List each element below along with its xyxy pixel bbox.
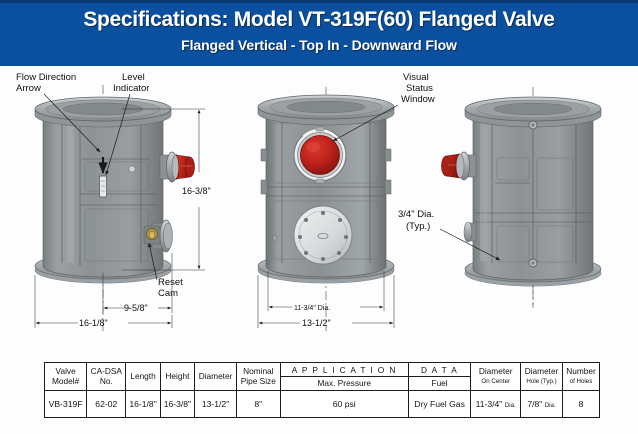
table-row: VB-319F 62-02 16-1/8" 16-3/8" 13-1/2" 8"… — [45, 391, 600, 418]
svg-text:Arrow: Arrow — [16, 83, 41, 94]
svg-text:Indicator: Indicator — [113, 83, 149, 94]
cell-nominal-pipe-size: 8" — [237, 391, 281, 418]
page-title: Specifications: Model VT-319F(60) Flange… — [0, 8, 638, 32]
svg-text:13-1/2": 13-1/2" — [302, 318, 331, 328]
view-rear: 3/4" Dia. (Typ.) — [398, 87, 601, 308]
page-subtitle: Flanged Vertical - Top In - Downward Flo… — [0, 37, 638, 53]
cell-diameter: 13-1/2" — [195, 391, 237, 418]
level-indicator-assembly — [160, 152, 195, 182]
view-front: Visual Status Window 11-3/4" Dia. 13-1/2… — [258, 72, 435, 331]
svg-text:Status: Status — [406, 83, 433, 94]
cell-diameter-hole-typ: 7/8" Dia. — [521, 391, 563, 418]
top-flange — [258, 95, 394, 125]
svg-text:9-5/8": 9-5/8" — [124, 303, 148, 313]
top-flange — [35, 97, 171, 127]
cell-number-of-holes: 8 — [563, 391, 600, 418]
specifications-table: Valve Model# CA-DSA No. Length Height Di… — [44, 362, 600, 418]
level-indicator-glyph — [100, 176, 107, 197]
svg-text:Level: Level — [122, 72, 145, 83]
table-group-header-row: Valve Model# CA-DSA No. Length Height Di… — [45, 363, 600, 377]
svg-text:Flow Direction: Flow Direction — [16, 72, 76, 83]
svg-text:11-3/4" Dia.: 11-3/4" Dia. — [294, 305, 330, 312]
header-banner: Specifications: Model VT-319F(60) Flange… — [0, 0, 638, 66]
header-nominal-pipe-size: Nominal Pipe Size — [237, 363, 281, 391]
cell-ca-dsa-no: 62-02 — [87, 391, 126, 418]
header-diameter-hole-typ: Diameter Hole (Typ.) — [521, 363, 563, 391]
header-max-pressure: Max. Pressure — [280, 377, 408, 391]
header-number-of-holes: Number of Holes — [563, 363, 600, 391]
cell-max-pressure: 60 psi — [280, 391, 408, 418]
svg-text:16-3/8": 16-3/8" — [182, 186, 211, 196]
svg-text:Cam: Cam — [158, 288, 178, 299]
cell-fuel: Dry Fuel Gas — [408, 391, 470, 418]
cell-length: 16-1/8" — [126, 391, 160, 418]
svg-text:16-1/8": 16-1/8" — [79, 318, 108, 328]
cell-height: 16-3/8" — [160, 391, 194, 418]
svg-text:(Typ.): (Typ.) — [406, 221, 430, 232]
cell-diameter-on-center: 11-3/4" Dia. — [471, 391, 521, 418]
valve-body — [473, 119, 593, 280]
header-diameter-on-center: Diameter On Center — [471, 363, 521, 391]
svg-text:Window: Window — [401, 94, 435, 105]
cell-valve-model: VB-319F — [45, 391, 87, 418]
bolted-access-cover — [294, 206, 352, 264]
header-group-application: A P P L I C A T I O N — [280, 363, 408, 377]
header-diameter: Diameter — [195, 363, 237, 391]
header-ca-dsa-no: CA-DSA No. — [87, 363, 126, 391]
drawing-area: Flow Direction Arrow Level Indicator Res… — [0, 63, 638, 359]
valve-body — [43, 119, 163, 277]
boss-fastener — [129, 166, 135, 172]
lower-nozzle — [464, 222, 476, 242]
header-valve-model: Valve Model# — [45, 363, 87, 391]
header-length: Length — [126, 363, 160, 391]
view-side: Flow Direction Arrow Level Indicator Res… — [16, 72, 211, 331]
header-height: Height — [160, 363, 194, 391]
header-fuel: Fuel — [408, 377, 470, 391]
header-group-data: D A T A — [408, 363, 470, 377]
svg-text:Reset: Reset — [158, 277, 183, 288]
level-indicator-assembly — [441, 152, 476, 180]
svg-text:Visual: Visual — [403, 72, 429, 83]
svg-text:3/4" Dia.: 3/4" Dia. — [398, 209, 434, 220]
specification-sheet: Specifications: Model VT-319F(60) Flange… — [0, 0, 638, 434]
